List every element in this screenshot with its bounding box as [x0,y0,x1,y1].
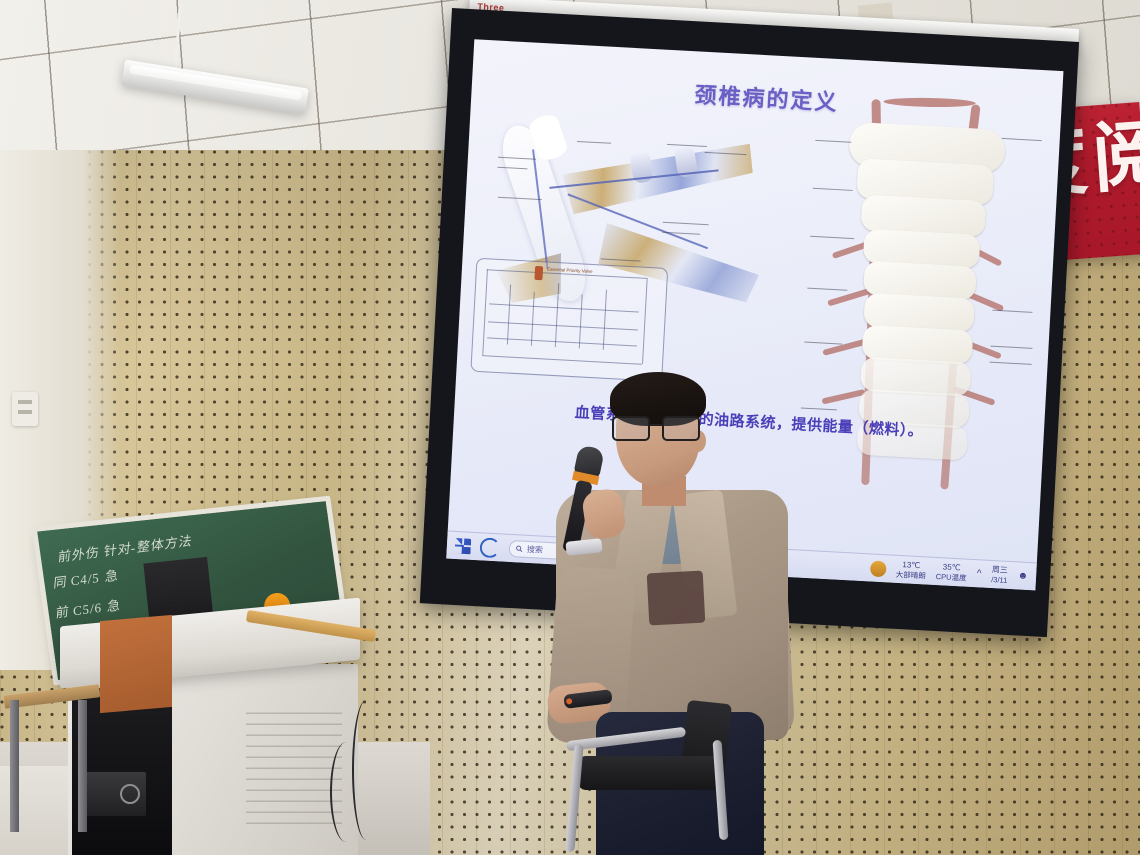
priority-valve-symbol [534,266,543,280]
hydraulic-schematic: Essential Priority Valve [470,258,668,382]
screenshot-root: 焦深度阅 前外伤 针对-整体方法 同 C4/5 急 前 C5/6 急 C5~6 … [0,0,1140,855]
cpu-readout[interactable]: 35℃ CPU温度 [936,562,968,583]
weather-desc: 大部晴朗 [896,570,926,581]
eyeglasses [612,416,704,438]
aircraft-fuel-system-figure: Essential Priority Valve [468,100,782,386]
power-cable-2 [352,700,380,840]
chair-leg-left [565,744,583,852]
lectern-vent-slots [246,704,342,824]
jacket-chest-pocket [647,571,706,626]
chevron-up-icon[interactable]: ^ [977,568,982,579]
bell-icon[interactable]: ☻ [1017,570,1028,582]
search-icon [516,545,523,552]
clock-readout[interactable]: 周三 /3/11 [991,565,1008,585]
cpu-desc: CPU温度 [936,572,967,583]
callout-line-7 [663,222,709,226]
weather-cloud-icon[interactable] [870,560,887,577]
chair-seat [578,756,720,790]
wooden-stool[interactable] [4,690,100,840]
stool-leg-left [10,700,19,832]
lectern-front-panel [100,615,172,713]
chair-armrest [566,727,686,752]
clock-date: /3/11 [991,575,1008,585]
amp-knob[interactable] [120,784,140,804]
windows-start-icon[interactable] [455,537,472,554]
callout-line-3 [577,141,611,144]
wall-outlet [12,392,38,426]
cervical-spine-figure [795,92,1048,534]
taskbar-tray: 13℃ 大部晴朗 35℃ CPU温度 ^ 周三 /3/11 ☻ [870,558,1029,586]
stool-leg-right [78,700,87,832]
search-placeholder: 搜索 [527,544,544,556]
office-chair[interactable] [566,700,744,855]
weather-readout[interactable]: 13℃ 大部晴朗 [896,560,927,581]
edge-browser-icon[interactable] [479,537,500,558]
